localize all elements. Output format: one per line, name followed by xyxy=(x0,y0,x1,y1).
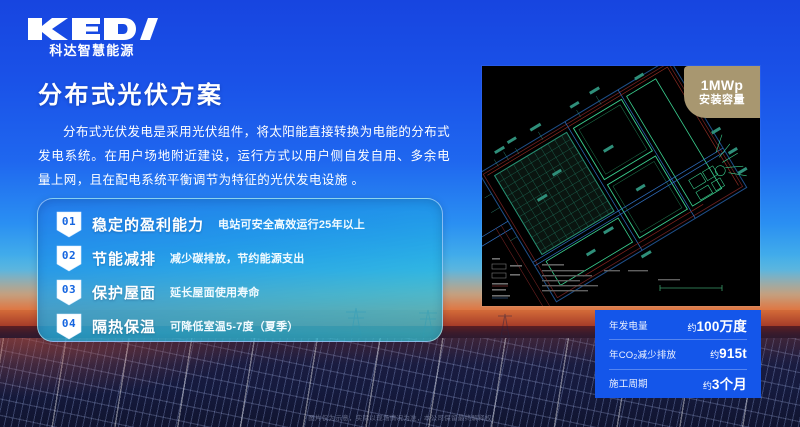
feature-title: 稳定的盈利能力 xyxy=(92,214,204,235)
stat-value: 约100万度 xyxy=(687,315,747,335)
feature-number: 01 xyxy=(56,215,82,228)
page-title: 分布式光伏方案 xyxy=(38,75,224,110)
feature-title: 节能减排 xyxy=(92,248,156,269)
feature-number: 02 xyxy=(56,249,82,262)
stat-row-construction-period: 施工周期 约3个月 xyxy=(609,369,747,398)
feature-title: 保护屋面 xyxy=(92,282,156,303)
feature-title: 隔热保温 xyxy=(92,316,156,337)
stats-panel: 年发电量 约100万度 年CO2减少排放 约915t 施工周期 约3个月 xyxy=(595,310,761,398)
feature-description: 电站可安全高效运行25年以上 xyxy=(218,216,365,232)
shield-number-icon: 02 xyxy=(56,245,82,272)
capacity-label: 安装容量 xyxy=(699,93,745,107)
stat-row-co2-reduction: 年CO2减少排放 约915t xyxy=(609,339,747,368)
stat-value: 约3个月 xyxy=(703,373,747,393)
feature-item-01[interactable]: 01 稳定的盈利能力 电站可安全高效运行25年以上 xyxy=(56,209,365,239)
keda-wordmark-icon xyxy=(26,16,158,42)
feature-item-03[interactable]: 03 保护屋面 延长屋面使用寿命 xyxy=(56,277,260,307)
sunset-glow xyxy=(0,338,260,398)
shield-number-icon: 04 xyxy=(56,313,82,340)
feature-item-02[interactable]: 02 节能减排 减少碳排放，节约能源支出 xyxy=(56,243,304,273)
feature-number: 03 xyxy=(56,283,82,296)
feature-description: 延长屋面使用寿命 xyxy=(170,284,260,300)
stat-row-annual-generation: 年发电量 约100万度 xyxy=(609,310,747,339)
stat-label: 年CO2减少排放 xyxy=(609,347,676,361)
shield-number-icon: 01 xyxy=(56,211,82,238)
footer-disclaimer: 图片仅为示意，实际以现场情况为准，本公司保留最终解释权 xyxy=(0,412,800,422)
cad-site-plan[interactable]: 1MWp 安装容量 xyxy=(482,66,760,306)
brand-logo-subtitle: 科达智慧能源 xyxy=(26,43,158,58)
shield-number-icon: 03 xyxy=(56,279,82,306)
capacity-badge: 1MWp 安装容量 xyxy=(684,66,760,118)
feature-description: 可降低室温5-7度（夏季） xyxy=(170,318,299,334)
intro-paragraph: 分布式光伏发电是采用光伏组件，将太阳能直接转换为电能的分布式发电系统。在用户场地… xyxy=(38,120,450,192)
brand-logo: 科达智慧能源 xyxy=(26,16,158,58)
stat-value: 约915t xyxy=(710,346,747,361)
stat-label: 施工周期 xyxy=(609,376,648,390)
features-panel: 01 稳定的盈利能力 电站可安全高效运行25年以上 02 节能减排 减少碳排放，… xyxy=(37,198,443,342)
feature-item-04[interactable]: 04 隔热保温 可降低室温5-7度（夏季） xyxy=(56,311,299,341)
feature-number: 04 xyxy=(56,317,82,330)
feature-description: 减少碳排放，节约能源支出 xyxy=(170,250,304,266)
stat-label: 年发电量 xyxy=(609,318,648,332)
capacity-value: 1MWp xyxy=(701,77,743,93)
slide-canvas: 科达智慧能源 分布式光伏方案 分布式光伏发电是采用光伏组件，将太阳能直接转换为电… xyxy=(0,0,800,427)
